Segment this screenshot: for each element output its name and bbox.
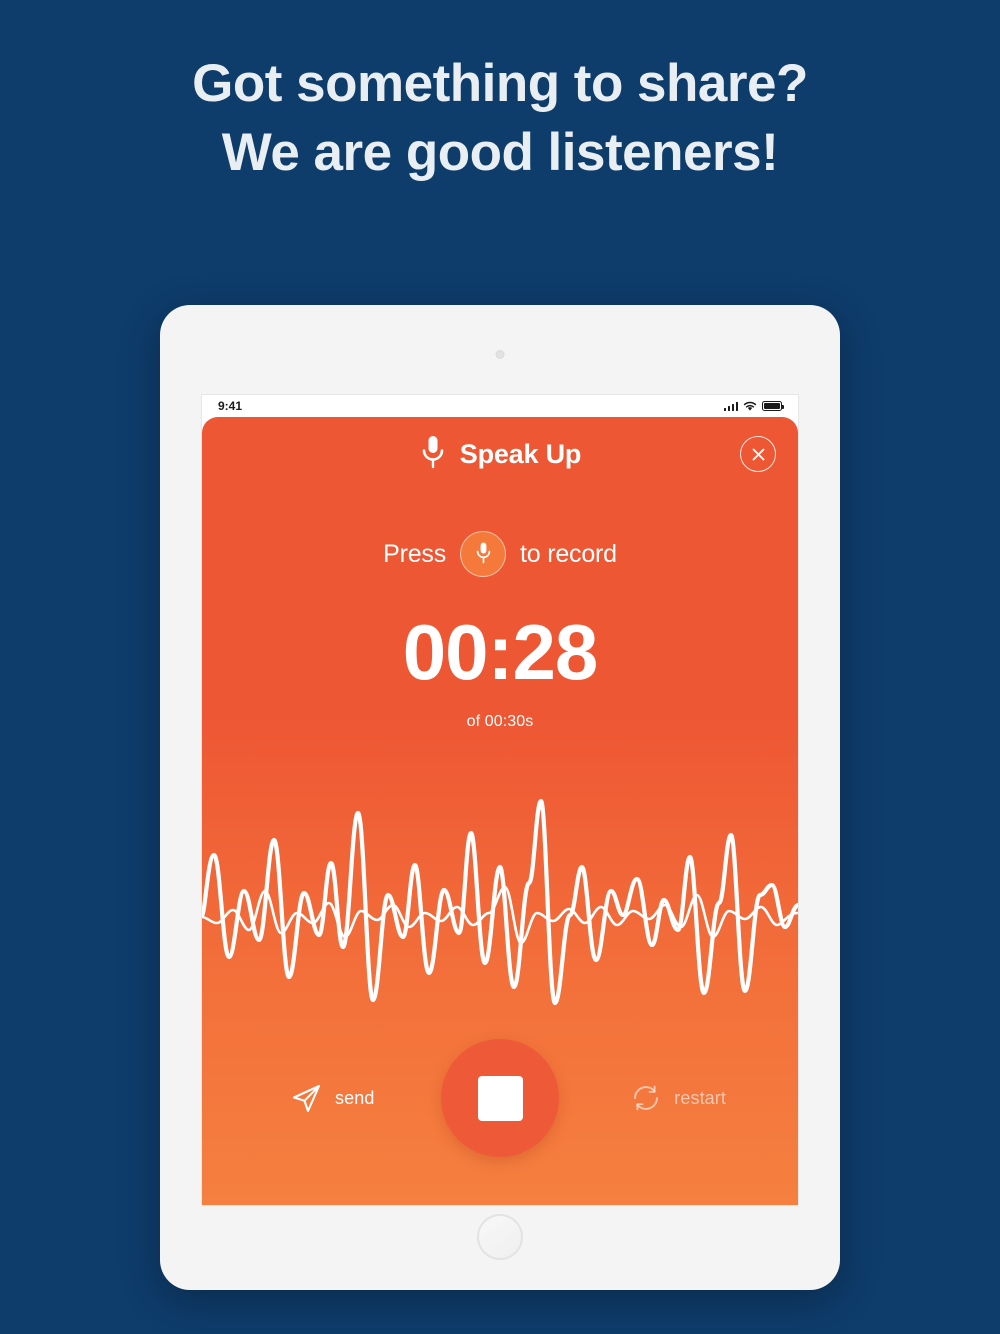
app-header: Speak Up xyxy=(202,417,798,491)
restart-circular-arrow-icon xyxy=(629,1081,663,1115)
waveform-inner-path xyxy=(202,887,798,943)
tablet-device-frame: 9:41 xyxy=(160,305,840,1290)
recorder-controls: send restart xyxy=(202,1033,798,1163)
record-prompt: Press to record xyxy=(202,531,798,577)
home-button-icon[interactable] xyxy=(477,1214,523,1260)
prompt-text-before: Press xyxy=(383,540,446,569)
headline-line-1: Got something to share? xyxy=(0,50,1000,119)
restart-button-label: restart xyxy=(674,1088,726,1109)
device-screen: 9:41 xyxy=(202,395,798,1205)
send-button-label: send xyxy=(335,1088,374,1109)
audio-waveform xyxy=(202,795,798,1010)
stop-square-icon xyxy=(478,1076,523,1121)
wifi-icon xyxy=(743,401,757,412)
waveform-svg xyxy=(202,795,798,1010)
stop-recording-button[interactable] xyxy=(441,1039,559,1157)
close-x-icon xyxy=(750,446,767,463)
waveform-outer-path xyxy=(202,801,798,1003)
status-bar: 9:41 xyxy=(202,395,798,417)
restart-button[interactable]: restart xyxy=(629,1081,726,1115)
record-mic-button[interactable] xyxy=(460,531,506,577)
status-bar-time: 9:41 xyxy=(218,399,242,413)
battery-full-icon xyxy=(762,401,782,411)
close-button[interactable] xyxy=(740,436,776,472)
send-paper-plane-icon xyxy=(290,1081,324,1115)
speak-up-app: Speak Up Press xyxy=(202,417,798,1205)
send-button[interactable]: send xyxy=(290,1081,374,1115)
page-headline: Got something to share? We are good list… xyxy=(0,50,1000,188)
elapsed-timer: 00:28 xyxy=(202,613,798,691)
camera-dot-icon xyxy=(496,350,505,359)
microphone-icon xyxy=(475,541,492,567)
status-bar-icons xyxy=(724,401,783,412)
app-title: Speak Up xyxy=(460,439,581,470)
headline-line-2: We are good listeners! xyxy=(0,119,1000,188)
screenshot-root: Got something to share? We are good list… xyxy=(0,0,1000,1334)
total-duration-label: of 00:30s xyxy=(202,713,798,731)
cellular-signal-icon xyxy=(724,402,739,411)
prompt-text-after: to record xyxy=(520,540,617,569)
microphone-icon xyxy=(419,434,447,474)
